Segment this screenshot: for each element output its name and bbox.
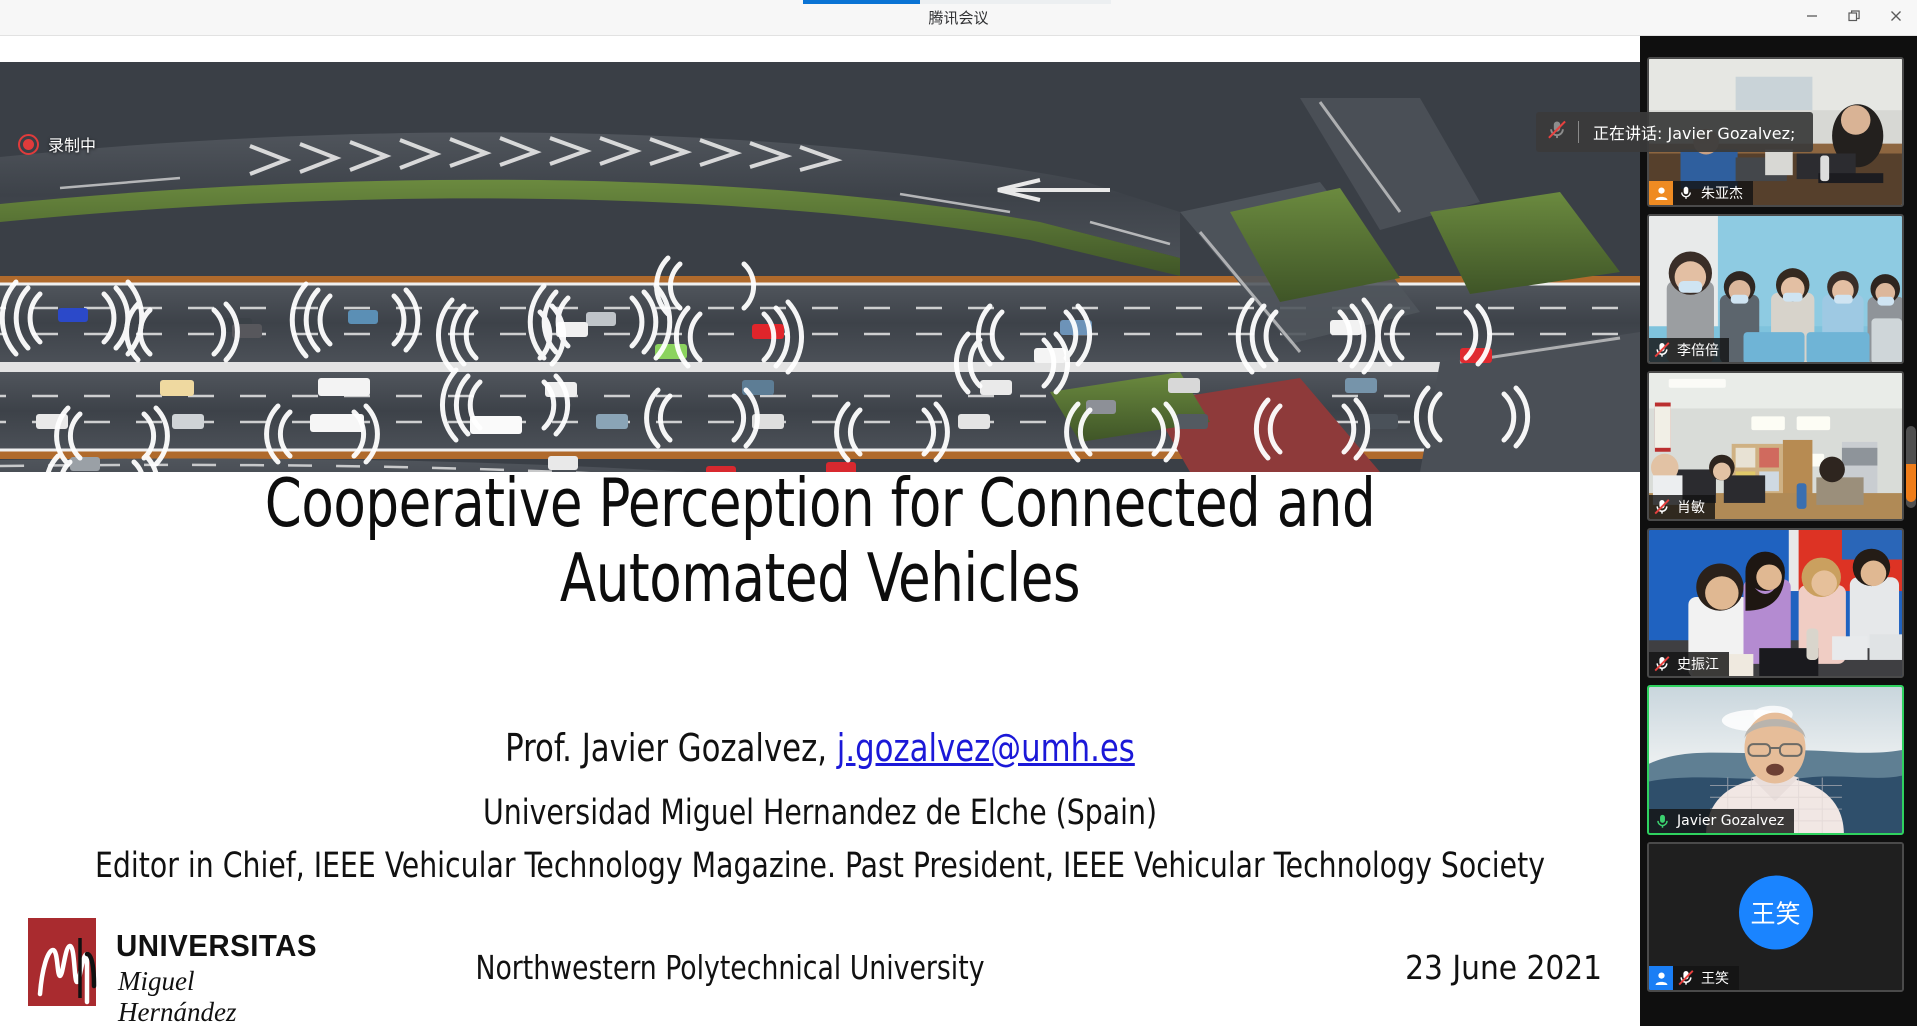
participant-nameplate: 朱亚杰 [1649, 181, 1753, 205]
window-titlebar: 腾讯会议 [0, 0, 1917, 36]
hero-photo-svg [0, 62, 1640, 472]
host-badge-icon [1649, 966, 1673, 990]
restore-icon [1847, 9, 1861, 28]
participant-tile[interactable]: 李倍倍 [1647, 214, 1904, 364]
participant-nameplate: 肖敏 [1649, 495, 1715, 519]
participant-nameplate: 李倍倍 [1649, 338, 1729, 362]
active-speaker-toast: 正在讲话: Javier Gozalvez; [1536, 112, 1813, 152]
mic-muted-icon [1673, 966, 1699, 990]
umh-logo-word-bottom: Miguel Hernández [118, 966, 318, 1026]
minimize-icon [1805, 9, 1819, 28]
mic-muted-icon [1649, 338, 1675, 362]
close-icon [1889, 9, 1903, 28]
participant-tile[interactable]: 史振江 [1647, 528, 1904, 678]
minimize-button[interactable] [1791, 0, 1833, 36]
scrollbar-thumb[interactable] [1906, 426, 1916, 508]
participant-name: 史振江 [1675, 654, 1719, 674]
author-email-link[interactable]: j.gozalvez@umh.es [837, 726, 1135, 770]
participant-tile[interactable]: 王笑 王笑 [1647, 842, 1904, 992]
slide-role-line: Editor in Chief, IEEE Vehicular Technolo… [91, 846, 1549, 886]
toast-divider [1578, 121, 1579, 143]
presentation-slide: 录制中 Cooperative Perception for Connected… [0, 36, 1640, 1026]
slide-affiliation: Universidad Miguel Hernandez de Elche (S… [118, 793, 1522, 833]
participant-nameplate: 王笑 [1649, 966, 1739, 990]
avatar: 王笑 [1739, 876, 1813, 950]
participant-tile[interactable]: 肖敏 [1647, 371, 1904, 521]
slide-host-university: Northwestern Polytechnical University [415, 948, 1045, 987]
mic-on-icon [1673, 181, 1699, 205]
mic-muted-icon [1546, 119, 1568, 146]
mic-on-icon [1649, 809, 1675, 833]
umh-logo-word-top: UNIVERSITAS [116, 928, 317, 964]
participant-name: 王笑 [1699, 968, 1729, 988]
scrollbar-thumb-accent [1906, 464, 1916, 502]
shared-screen-stage[interactable]: 录制中 Cooperative Perception for Connected… [0, 36, 1640, 1026]
mic-muted-icon [1649, 652, 1675, 676]
participant-rail-scrollbar[interactable] [1906, 36, 1916, 1026]
participant-tile-active-speaker[interactable]: Javier Gozalvez [1647, 685, 1904, 835]
maximize-button[interactable] [1833, 0, 1875, 36]
participant-rail[interactable]: 朱亚杰 [1640, 36, 1917, 1026]
recording-label: 录制中 [48, 132, 96, 156]
slide-author-line: Prof. Javier Gozalvez, j.gozalvez@umh.es [154, 726, 1486, 770]
participant-nameplate: Javier Gozalvez [1649, 809, 1794, 833]
umh-logo-mark-icon [32, 928, 112, 1006]
participant-name: Javier Gozalvez [1675, 813, 1784, 829]
record-dot-icon [18, 134, 39, 155]
slide-date: 23 June 2021 [1405, 948, 1602, 987]
participant-name: 肖敏 [1675, 497, 1705, 517]
mic-muted-icon [1649, 495, 1675, 519]
slide-title: Cooperative Perception for Connected and… [169, 466, 1471, 616]
app-title: 腾讯会议 [0, 0, 1917, 36]
umh-logo: UNIVERSITAS Miguel Hernández [28, 916, 318, 1008]
recording-indicator: 录制中 [18, 132, 96, 156]
participant-name: 朱亚杰 [1699, 183, 1743, 203]
host-badge-icon [1649, 181, 1673, 205]
active-speaker-text: 正在讲话: Javier Gozalvez; [1593, 120, 1795, 144]
participant-nameplate: 史振江 [1649, 652, 1729, 676]
participant-name: 李倍倍 [1675, 340, 1719, 360]
hero-image-highway-v2x: 录制中 [0, 62, 1640, 472]
close-button[interactable] [1875, 0, 1917, 36]
author-name: Prof. Javier Gozalvez, [505, 726, 837, 770]
